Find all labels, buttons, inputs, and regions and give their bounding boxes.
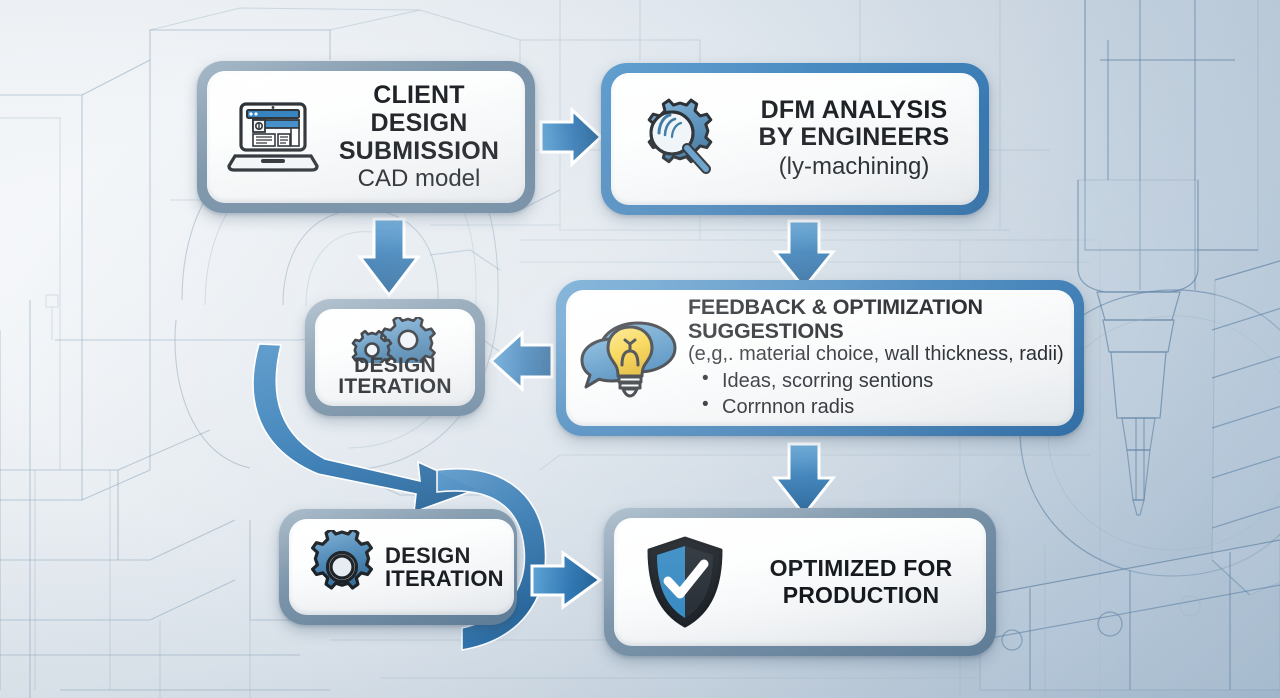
arrow-left-icon xyxy=(491,333,552,389)
node-line-1: FEEDBACK & OPTIMIZATION SUGGESTIONS xyxy=(688,296,1064,343)
shield-check-icon xyxy=(624,534,746,630)
node-line-3: (ly-machining) xyxy=(739,152,969,181)
node-line-2: PRODUCTION xyxy=(746,582,976,609)
node-line-2: (e,g,. material choice, wall thickness, … xyxy=(688,343,1064,367)
node-line-1: DFM ANALYSIS xyxy=(739,97,969,125)
diagram-canvas: CLIENT DESIGN SUBMISSION CAD model xyxy=(0,0,1280,698)
node-dfm-analysis[interactable]: DFM ANALYSIS BY ENGINEERS (ly-machining) xyxy=(601,63,989,215)
node-line-1: DESIGN xyxy=(385,544,504,567)
node-line-1: CLIENT DESIGN xyxy=(329,81,509,137)
list-item: Ideas, scorring sentions xyxy=(688,368,1064,394)
node-client-design-submission[interactable]: CLIENT DESIGN SUBMISSION CAD model xyxy=(197,61,535,213)
gear-icon xyxy=(299,530,385,604)
speech-bulb-icon xyxy=(576,315,688,401)
node-client-labels: CLIENT DESIGN SUBMISSION CAD model xyxy=(329,81,515,194)
node-optimized-for-production[interactable]: OPTIMIZED FOR PRODUCTION xyxy=(604,508,996,656)
node-production-labels: OPTIMIZED FOR PRODUCTION xyxy=(746,555,976,609)
feedback-bullet-list: Ideas, scorring sentions Corrnnon radis xyxy=(688,368,1064,420)
node-iteration-labels: DESIGN ITERATION xyxy=(385,544,504,591)
arrow-right-icon xyxy=(541,110,601,164)
node-feedback-optimization[interactable]: FEEDBACK & OPTIMIZATION SUGGESTIONS (e,g… xyxy=(556,280,1084,436)
node-dfm-labels: DFM ANALYSIS BY ENGINEERS (ly-machining) xyxy=(739,97,969,181)
node-line-1: OPTIMIZED FOR xyxy=(746,555,976,582)
node-design-iteration-bottom[interactable]: DESIGN ITERATION xyxy=(279,509,517,625)
node-line-2: ITERATION xyxy=(385,567,504,590)
laptop-cad-icon xyxy=(217,98,329,176)
arrow-down-icon xyxy=(775,444,833,515)
node-feedback-labels: FEEDBACK & OPTIMIZATION SUGGESTIONS (e,g… xyxy=(688,296,1064,420)
gear-magnifier-icon xyxy=(621,97,739,181)
arrow-down-icon xyxy=(775,221,833,288)
list-item: Corrnnon radis xyxy=(688,394,1064,420)
node-design-iteration-top[interactable]: DESIGN ITERATION xyxy=(305,299,485,416)
node-line-2: BY ENGINEERS xyxy=(739,124,969,152)
arrow-down-icon xyxy=(360,219,418,295)
node-line-2: SUBMISSION xyxy=(329,137,509,165)
node-line-3: CAD model xyxy=(329,165,509,194)
node-line-2: ITERATION xyxy=(338,376,451,398)
